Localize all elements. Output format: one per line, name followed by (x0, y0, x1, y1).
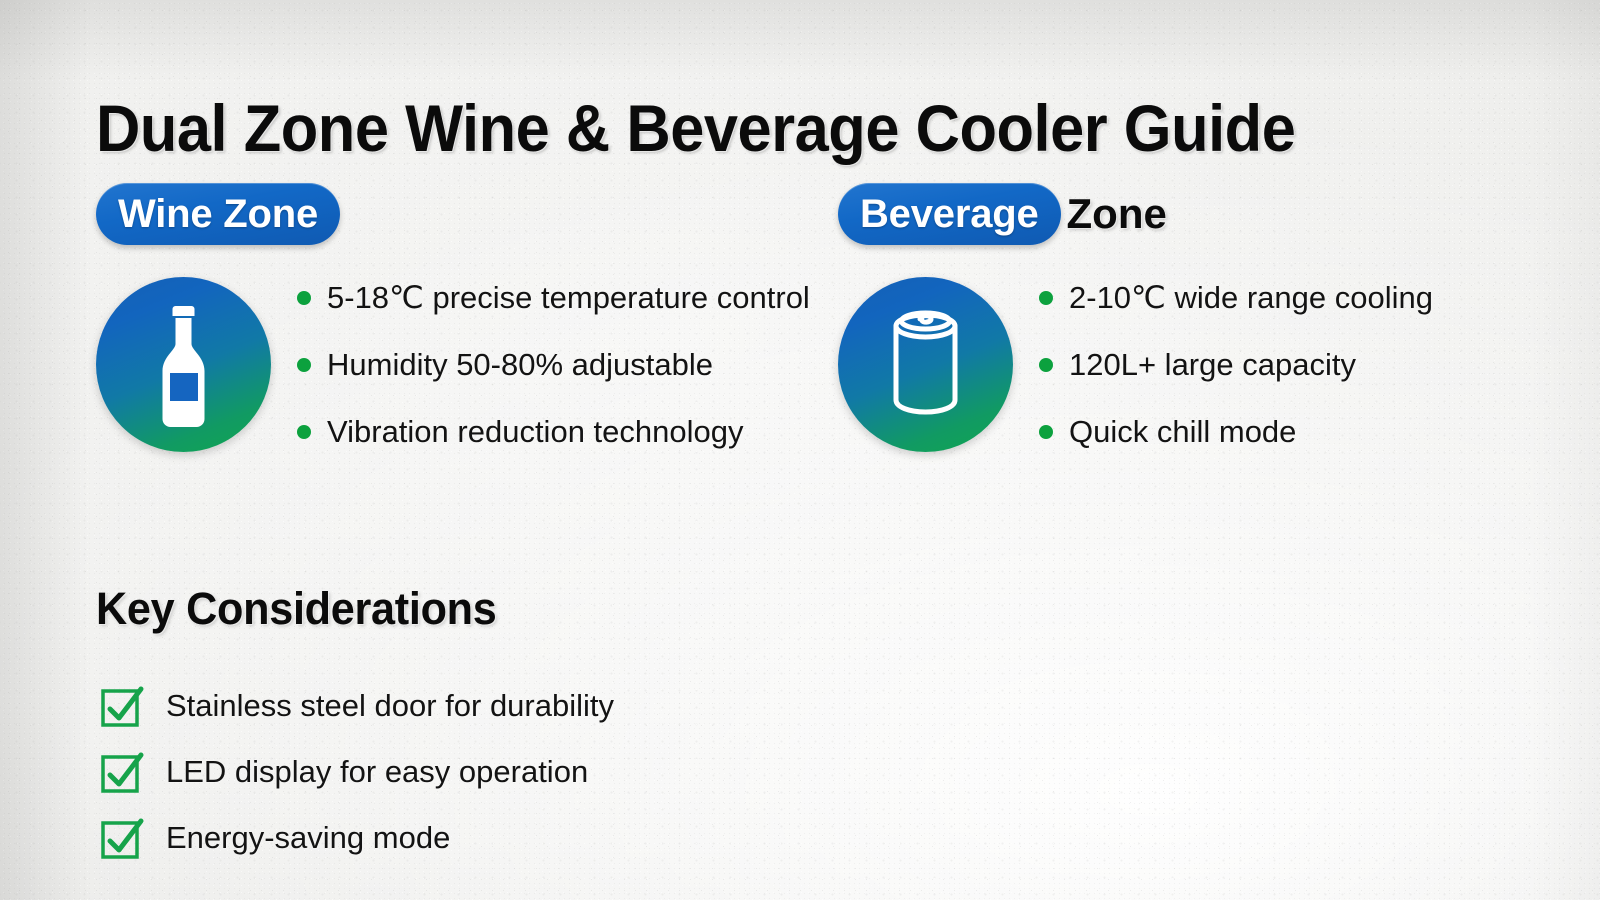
zone-badge-beverage-suffix: Zone (1067, 190, 1167, 238)
key-considerations-section: Key Considerations Stainless steel door … (96, 546, 614, 871)
list-item: 120L+ large capacity (1039, 331, 1433, 398)
poster-canvas: Dual Zone Wine & Beverage Cooler Guide W… (0, 0, 1600, 900)
checkbox-checked-icon (100, 816, 144, 860)
zone-body-beverage: 2-10℃ wide range cooling 120L+ large cap… (838, 264, 1433, 465)
section-title-key-considerations: Key Considerations (96, 583, 593, 635)
feature-list-beverage: 2-10℃ wide range cooling 120L+ large cap… (1013, 264, 1433, 465)
feature-text: 120L+ large capacity (1069, 347, 1356, 383)
list-item: LED display for easy operation (100, 739, 614, 805)
zone-badge-wine: Wine Zone (96, 183, 340, 245)
bullet-dot-icon (297, 358, 311, 372)
checkbox-checked-icon (100, 684, 144, 728)
list-item: 5-18℃ precise temperature control (297, 264, 810, 331)
bullet-dot-icon (297, 425, 311, 439)
feature-text: Humidity 50-80% adjustable (327, 347, 713, 383)
feature-list-wine: 5-18℃ precise temperature control Humidi… (271, 264, 810, 465)
feature-text: 2-10℃ wide range cooling (1069, 280, 1433, 316)
zone-card-beverage: Beverage Zone (838, 182, 1433, 465)
consideration-text: Energy-saving mode (166, 820, 450, 856)
bullet-dot-icon (1039, 425, 1053, 439)
wine-bottle-icon-circle (96, 277, 271, 452)
zone-card-wine: Wine Zone 5-18℃ precise temperature (96, 182, 810, 465)
bullet-dot-icon (1039, 291, 1053, 305)
zone-heading-beverage: Beverage Zone (838, 182, 1433, 246)
list-item: Humidity 50-80% adjustable (297, 331, 810, 398)
zone-badge-beverage: Beverage (838, 183, 1061, 245)
checkbox-checked-icon (100, 750, 144, 794)
list-item: 2-10℃ wide range cooling (1039, 264, 1433, 331)
list-item: Vibration reduction technology (297, 398, 810, 465)
feature-text: 5-18℃ precise temperature control (327, 280, 810, 316)
soda-can-icon-circle (838, 277, 1013, 452)
feature-text: Vibration reduction technology (327, 414, 744, 450)
wine-bottle-icon (96, 277, 271, 452)
list-item: Energy-saving mode (100, 805, 614, 871)
list-item: Quick chill mode (1039, 398, 1433, 465)
consideration-text: Stainless steel door for durability (166, 688, 614, 724)
feature-text: Quick chill mode (1069, 414, 1296, 450)
soda-can-icon (838, 277, 1013, 452)
page-title: Dual Zone Wine & Beverage Cooler Guide (96, 90, 1295, 166)
bullet-dot-icon (297, 291, 311, 305)
bullet-dot-icon (1039, 358, 1053, 372)
list-item: Stainless steel door for durability (100, 673, 614, 739)
key-considerations-list: Stainless steel door for durability LED … (100, 673, 614, 871)
consideration-text: LED display for easy operation (166, 754, 588, 790)
zone-body-wine: 5-18℃ precise temperature control Humidi… (96, 264, 810, 465)
zone-heading-wine: Wine Zone (96, 182, 810, 246)
